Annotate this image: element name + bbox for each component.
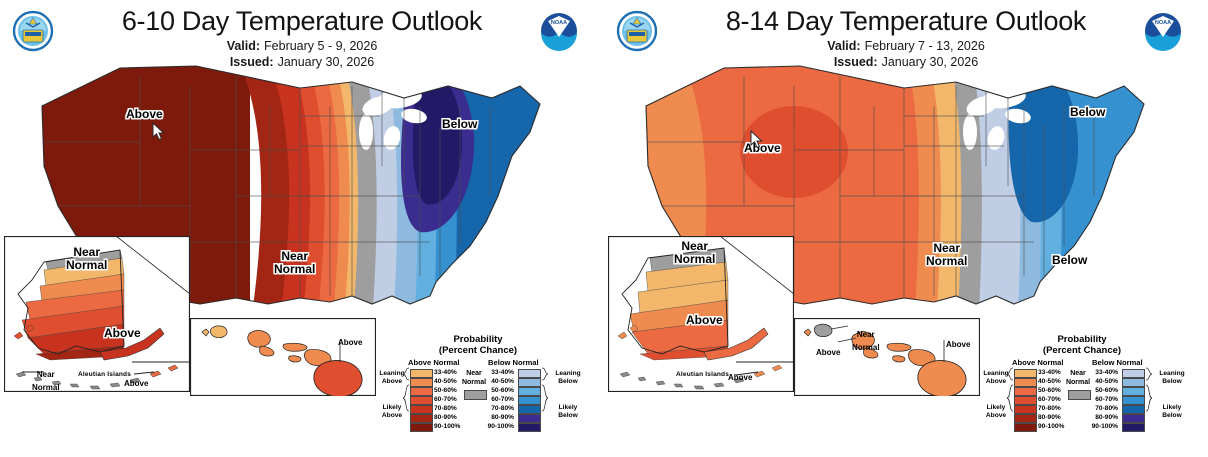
hawaii-label-above: Above xyxy=(338,336,362,349)
aleutian-label-near-normal: Near Normal xyxy=(32,368,60,394)
aleutian-caption: Aleutian Islands xyxy=(676,368,729,381)
legend-brace-left xyxy=(1006,367,1014,429)
legend-label-above-2: 50-60% xyxy=(434,387,464,394)
legend-label-below-5: 80-90% xyxy=(1088,414,1118,421)
outlook-page: NOAA 6-10 Day Temperature Outlook Valid:… xyxy=(0,0,1208,457)
hawaii-label-above-big-island: Above xyxy=(946,338,970,351)
legend-label-below-6: 90-100% xyxy=(484,423,514,430)
legend-label-below-4: 70-80% xyxy=(484,405,514,412)
legend-label-below-2: 50-60% xyxy=(1088,387,1118,394)
legend-swatch-below-40-50 xyxy=(1122,378,1145,387)
legend-swatch-above-80-90 xyxy=(410,414,433,423)
legend-title-line2: (Percent Chance) xyxy=(378,345,578,356)
legend-swatch-above-40-50 xyxy=(1014,378,1037,387)
legend-likely-below: Likely Below xyxy=(552,404,584,420)
hawaii-label-above-west: Above xyxy=(816,346,840,359)
legend-label-below-3: 60-70% xyxy=(484,396,514,403)
legend-swatch-above-50-60 xyxy=(1014,387,1037,396)
map-label-near-normal: Near Normal xyxy=(274,250,315,276)
legend-label-below-0: 33-40% xyxy=(1088,369,1118,376)
alaska-label-near-normal: Near Normal xyxy=(66,246,107,272)
map-label-below-northeast: Below xyxy=(1070,106,1105,119)
legend-title-line1: Probability xyxy=(982,334,1182,345)
map-label-above: Above xyxy=(126,108,163,121)
legend-label-below-3: 60-70% xyxy=(1088,396,1118,403)
legend-label-below-1: 40-50% xyxy=(1088,378,1118,385)
legend-label-below-4: 70-80% xyxy=(1088,405,1118,412)
legend-swatch-below-70-80 xyxy=(1122,405,1145,414)
legend-swatch-above-70-80 xyxy=(410,405,433,414)
page-title: 6-10 Day Temperature Outlook xyxy=(0,6,604,37)
probability-legend: Probability (Percent Chance) Above Norma… xyxy=(982,334,1182,444)
legend-likely-below: Likely Below xyxy=(1156,404,1188,420)
legend-swatch-below-70-80 xyxy=(518,405,541,414)
legend-label-below-2: 50-60% xyxy=(484,387,514,394)
legend-swatch-above-80-90 xyxy=(1014,414,1037,423)
legend-label-above-5: 80-90% xyxy=(434,414,464,421)
legend-swatch-below-80-90 xyxy=(518,414,541,423)
legend-below-header: Below Normal xyxy=(488,358,539,367)
legend-label-above-4: 70-80% xyxy=(1038,405,1068,412)
legend-leaning-below: Leaning Below xyxy=(552,370,584,386)
alaska-label-above: Above xyxy=(104,327,141,340)
legend-label-above-3: 60-70% xyxy=(434,396,464,403)
hawaii-label-near-normal: Near Normal xyxy=(852,328,880,354)
legend-label-above-6: 90-100% xyxy=(434,423,464,430)
legend-leaning-below: Leaning Below xyxy=(1156,370,1188,386)
legend-brace-left xyxy=(402,367,410,429)
probability-legend: Probability (Percent Chance) Above Norma… xyxy=(378,334,578,444)
mouse-cursor xyxy=(152,122,165,141)
legend-above-header: Above Normal xyxy=(1012,358,1063,367)
legend-title-line2: (Percent Chance) xyxy=(982,345,1182,356)
legend-swatch-above-40-50 xyxy=(410,378,433,387)
legend-swatch-above-90-100 xyxy=(1014,423,1037,432)
panel-eight-fourteen-day: NOAA 8-14 Day Temperature Outlook Valid:… xyxy=(604,0,1208,457)
mouse-cursor xyxy=(750,130,763,149)
alaska-label-near-normal: Near Normal xyxy=(674,240,715,266)
legend-swatch-below-80-90 xyxy=(1122,414,1145,423)
legend-swatch-below-90-100 xyxy=(1122,423,1145,432)
legend-swatch-above-50-60 xyxy=(410,387,433,396)
legend-title-line1: Probability xyxy=(378,334,578,345)
legend-swatch-above-33-40 xyxy=(410,369,433,378)
map-label-below: Below xyxy=(442,118,477,131)
map-label-near-normal: Near Normal xyxy=(926,242,967,268)
legend-label-above-3: 60-70% xyxy=(1038,396,1068,403)
legend-label-below-6: 90-100% xyxy=(1088,423,1118,430)
legend-label-above-2: 50-60% xyxy=(1038,387,1068,394)
legend-swatch-below-60-70 xyxy=(1122,396,1145,405)
legend-above-header: Above Normal xyxy=(408,358,459,367)
legend-swatch-below-60-70 xyxy=(518,396,541,405)
legend-label-above-4: 70-80% xyxy=(434,405,464,412)
legend-below-header: Below Normal xyxy=(1092,358,1143,367)
legend-label-above-5: 80-90% xyxy=(1038,414,1068,421)
map-label-below-southeast: Below xyxy=(1052,254,1087,267)
alaska-label-above: Above xyxy=(686,314,723,327)
legend-label-above-6: 90-100% xyxy=(1038,423,1068,430)
legend-swatch-above-33-40 xyxy=(1014,369,1037,378)
legend-label-below-5: 80-90% xyxy=(484,414,514,421)
page-title: 8-14 Day Temperature Outlook xyxy=(604,6,1208,37)
legend-swatch-below-90-100 xyxy=(518,423,541,432)
legend-brace-right xyxy=(1145,367,1153,429)
legend-swatch-below-50-60 xyxy=(1122,387,1145,396)
legend-swatch-above-90-100 xyxy=(410,423,433,432)
legend-swatch-above-60-70 xyxy=(1014,396,1037,405)
legend-brace-right xyxy=(541,367,549,429)
aleutian-label-above: Above xyxy=(124,377,148,390)
legend-swatch-below-33-40 xyxy=(1122,369,1145,378)
aleutian-label-above: Above xyxy=(728,371,752,384)
legend-swatch-above-60-70 xyxy=(410,396,433,405)
legend-label-below-0: 33-40% xyxy=(484,369,514,376)
legend-swatch-below-33-40 xyxy=(518,369,541,378)
panel-six-ten-day: NOAA 6-10 Day Temperature Outlook Valid:… xyxy=(0,0,604,457)
legend-swatch-below-40-50 xyxy=(518,378,541,387)
legend-label-below-1: 40-50% xyxy=(484,378,514,385)
legend-swatch-below-50-60 xyxy=(518,387,541,396)
hawaii-inset xyxy=(190,318,376,396)
legend-swatch-above-70-80 xyxy=(1014,405,1037,414)
